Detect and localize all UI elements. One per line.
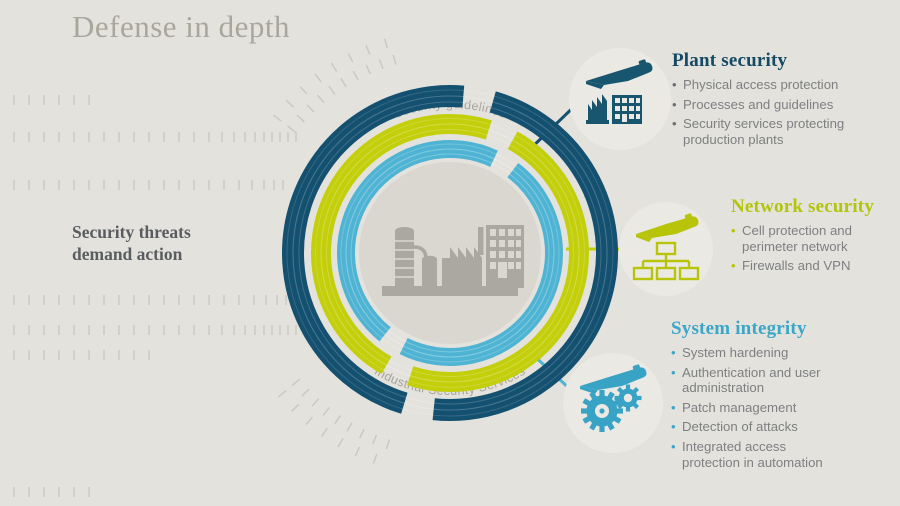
list-item: • Authentication and user administration — [671, 365, 896, 396]
bullet-icon: • — [671, 419, 676, 435]
list-item: • Firewalls and VPN — [731, 258, 900, 274]
lead-statement: Security threats demand action — [72, 221, 302, 265]
ring-core — [359, 162, 541, 344]
list-item: • Security services protecting productio… — [672, 116, 892, 147]
icon-bubble-plant-security[interactable] — [569, 48, 671, 150]
list-item: • Cell protection and perimeter network — [731, 223, 900, 254]
list-item-line1: Integrated access — [682, 439, 786, 454]
list-item-line2: protection in automation — [682, 455, 896, 471]
infographic-canvas: Security guidelines Industrial Security … — [0, 0, 900, 506]
list-item-line1: Processes and guidelines — [683, 97, 833, 112]
list-item-line1: Security services protecting — [683, 116, 844, 131]
bullet-icon: • — [671, 345, 676, 361]
list-item: • System hardening — [671, 345, 896, 361]
list-item-line1: Cell protection and — [742, 223, 852, 238]
bullet-icon: • — [731, 258, 736, 274]
lead-line-2: demand action — [72, 243, 302, 265]
panel-title-system-integrity: System integrity — [671, 318, 896, 340]
list-item-line1: Firewalls and VPN — [742, 258, 850, 273]
bullet-icon: • — [671, 439, 676, 455]
bullet-icon: • — [672, 116, 677, 132]
panel-list-system-integrity: • System hardening • Authentication and … — [671, 345, 896, 470]
bullet-icon: • — [671, 400, 676, 416]
icon-bubble-network-security[interactable] — [619, 202, 713, 296]
panel-list-plant-security: • Physical access protection • Processes… — [672, 77, 892, 147]
panel-title-network-security: Network security — [731, 196, 900, 218]
list-item-line1: Physical access protection — [683, 77, 838, 92]
bullet-icon: • — [731, 223, 736, 239]
list-item-line2: administration — [682, 380, 896, 396]
list-item-line2: production plants — [683, 132, 892, 148]
list-item-line1: Authentication and user — [682, 365, 821, 380]
panel-system-integrity: System integrity • System hardening • Au… — [671, 318, 896, 474]
icon-bubble-system-integrity[interactable] — [563, 353, 663, 453]
threat-marks-decoration — [14, 95, 303, 497]
page-title: Defense in depth — [72, 9, 290, 45]
list-item: • Processes and guidelines — [672, 97, 892, 113]
bullet-icon: • — [671, 365, 676, 381]
panel-plant-security: Plant security • Physical access protect… — [672, 50, 892, 151]
list-item: • Detection of attacks — [671, 419, 896, 435]
panel-network-security: Network security • Cell protection and p… — [731, 196, 900, 278]
panel-list-network-security: • Cell protection and perimeter network … — [731, 223, 900, 274]
bullet-icon: • — [672, 77, 677, 93]
bullet-icon: • — [672, 97, 677, 113]
panel-title-plant-security: Plant security — [672, 50, 892, 72]
list-item: • Integrated access protection in automa… — [671, 439, 896, 470]
list-item-line1: System hardening — [682, 345, 788, 360]
list-item-line1: Patch management — [682, 400, 796, 415]
list-item: • Patch management — [671, 400, 896, 416]
list-item-line1: Detection of attacks — [682, 419, 798, 434]
list-item-line2: perimeter network — [742, 239, 900, 255]
lead-line-1: Security threats — [72, 222, 191, 242]
list-item: • Physical access protection — [672, 77, 892, 93]
